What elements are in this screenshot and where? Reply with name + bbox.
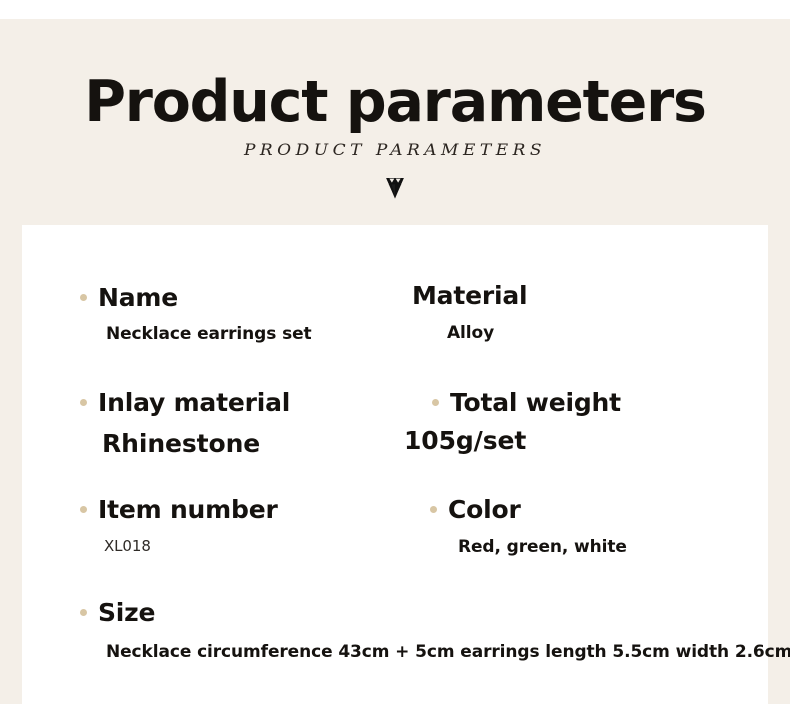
parameter-color: Color Red, green, white <box>430 497 627 556</box>
parameter-label-row: Size <box>80 600 790 625</box>
parameters-card: Name Necklace earrings set Material Allo… <box>22 225 768 704</box>
parameter-total-weight: Total weight 105g/set <box>432 390 621 453</box>
parameter-label-row: Total weight <box>432 390 621 415</box>
parameter-material: Material Alloy <box>412 283 527 342</box>
parameter-label: Item number <box>98 497 278 522</box>
parameter-value: Alloy <box>447 325 527 342</box>
bullet-dot-icon <box>80 294 87 301</box>
parameter-label-row: Item number <box>80 497 278 522</box>
product-parameters-page: Product parameters PRODUCT PARAMETERS Na… <box>0 0 790 704</box>
parameter-name: Name Necklace earrings set <box>80 285 312 343</box>
bullet-dot-icon <box>80 506 87 513</box>
parameter-value: Necklace earrings set <box>106 326 312 343</box>
page-title: Product parameters <box>0 19 790 131</box>
page-header: Product parameters PRODUCT PARAMETERS <box>0 19 790 225</box>
parameter-size: Size Necklace circumference 43cm + 5cm e… <box>80 600 790 661</box>
parameter-label: Size <box>98 600 155 625</box>
bullet-dot-icon <box>80 399 87 406</box>
parameter-inlay-material: Inlay material Rhinestone <box>80 390 290 456</box>
parameter-value: Red, green, white <box>458 539 627 556</box>
parameter-label: Inlay material <box>98 390 290 415</box>
parameter-value: 105g/set <box>404 428 621 453</box>
parameters-grid: Name Necklace earrings set Material Allo… <box>22 225 768 704</box>
parameter-label: Name <box>98 285 178 310</box>
parameter-value: Rhinestone <box>102 431 290 456</box>
bullet-dot-icon <box>80 609 87 616</box>
page-subtitle: PRODUCT PARAMETERS <box>0 132 790 159</box>
parameter-item-number: Item number XL018 <box>80 497 278 554</box>
parameter-label: Color <box>448 497 521 522</box>
parameter-value: XL018 <box>104 539 278 554</box>
diamond-icon <box>382 160 408 200</box>
parameter-label-row: Inlay material <box>80 390 290 415</box>
bullet-dot-icon <box>430 506 437 513</box>
parameter-label: Material <box>412 283 527 308</box>
parameter-label-row: Material <box>412 283 527 308</box>
parameter-label-row: Color <box>430 497 627 522</box>
bullet-dot-icon <box>432 399 439 406</box>
parameter-label: Total weight <box>450 390 621 415</box>
parameter-value: Necklace circumference 43cm + 5cm earrin… <box>106 644 790 661</box>
parameter-label-row: Name <box>80 285 312 310</box>
